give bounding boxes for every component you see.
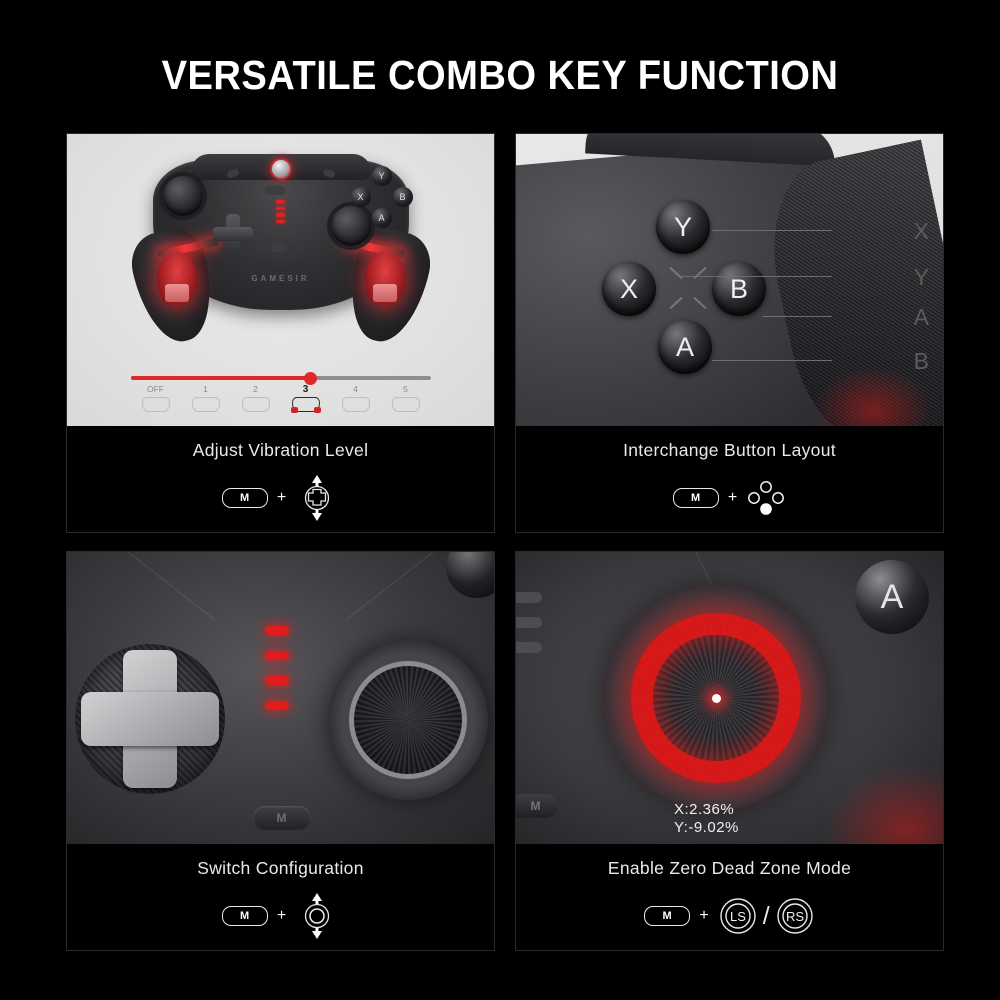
face-button-x: X	[351, 187, 371, 207]
card-adjust-vibration-level[interactable]: Y X B A GAMESIR OFF 1	[66, 133, 495, 533]
dead-zone-glow-ring	[631, 613, 801, 783]
slider-tick-1: 1	[181, 384, 231, 395]
face-button-a-macro: A	[855, 560, 929, 634]
callout-group: X Y A B	[516, 134, 943, 426]
card-photo-button-layout: Y X B A X Y A B	[516, 134, 943, 426]
feature-card-grid: Y X B A GAMESIR OFF 1	[66, 133, 944, 951]
card-caption-interchange-button-layout: Interchange Button Layout M +	[516, 426, 943, 532]
combo-keys-switch-configuration: M +	[222, 893, 339, 939]
dpad-macro	[75, 644, 225, 794]
card-photo-controller-vibration: Y X B A GAMESIR OFF 1	[67, 134, 494, 426]
left-stick-click-icon: LS	[718, 896, 760, 936]
callout-label-y: Y	[914, 264, 929, 291]
combo-keys-adjust-vibration: M +	[222, 475, 339, 521]
vibration-motor-left	[157, 252, 197, 306]
analog-stick-macro	[328, 640, 488, 800]
slider-tick-3-active: 3	[281, 384, 331, 395]
caption-label: Enable Zero Dead Zone Mode	[608, 858, 851, 879]
dpad-icon	[213, 214, 253, 254]
card-caption-enable-zero-dead-zone-mode: Enable Zero Dead Zone Mode M + LS / RS	[516, 844, 943, 950]
controller-glyph-4-icon	[342, 397, 370, 412]
ls-label: LS	[730, 909, 746, 924]
dpad-up-down-icon	[295, 475, 339, 521]
slider-tick-5: 5	[381, 384, 431, 395]
left-analog-stick	[163, 176, 203, 216]
vibration-level-slider[interactable]: OFF 1 2 3 4 5	[131, 376, 431, 412]
card-switch-configuration[interactable]: M Switch Configuration M +	[66, 551, 495, 951]
led-indicator-bar	[276, 200, 285, 223]
slider-controller-glyphs	[131, 397, 431, 412]
card-enable-zero-dead-zone-mode[interactable]: A M X:2.36% Y:-9.02% Enable Zero Dead Zo…	[515, 551, 944, 951]
m-button-icon	[271, 244, 287, 252]
face-button-cluster: Y X B A	[351, 166, 413, 228]
combo-keys-zero-dead-zone: M + LS / RS	[644, 893, 814, 939]
analog-stick-up-down-icon	[295, 893, 339, 939]
face-button-b: B	[393, 187, 413, 207]
rs-label: RS	[786, 909, 804, 924]
plus-sign: +	[277, 908, 286, 924]
face-button-y: Y	[372, 166, 392, 186]
m-button-macro: M	[516, 794, 558, 818]
right-stick-click-icon: RS	[773, 896, 815, 936]
caption-label: Interchange Button Layout	[623, 440, 836, 461]
controller-glyph-1-icon	[192, 397, 220, 412]
card-photo-dead-zone: A M X:2.36% Y:-9.02%	[516, 552, 943, 844]
slider-handle[interactable]	[304, 372, 317, 385]
card-caption-adjust-vibration-level: Adjust Vibration Level M +	[67, 426, 494, 532]
stick-center-dot	[712, 694, 721, 703]
m-key-icon: M	[222, 906, 268, 926]
face-button-a: A	[372, 208, 392, 228]
m-key-icon: M	[644, 906, 690, 926]
home-button-icon	[270, 158, 292, 180]
stick-divider: /	[763, 902, 770, 931]
card-interchange-button-layout[interactable]: Y X B A X Y A B	[515, 133, 944, 533]
callout-label-x: X	[914, 218, 929, 245]
side-button-strip	[516, 592, 542, 653]
combo-keys-interchange-layout: M +	[673, 475, 786, 521]
dead-zone-stick	[604, 586, 828, 810]
controller-illustration: Y X B A GAMESIR	[131, 148, 431, 348]
caption-label: Switch Configuration	[197, 858, 364, 879]
slider-tick-off: OFF	[131, 384, 181, 395]
face-button-cluster-icon	[746, 479, 786, 517]
callout-label-b: B	[914, 348, 929, 375]
card-photo-dpad-leds: M	[67, 552, 494, 844]
dead-zone-readout: X:2.36% Y:-9.02%	[674, 801, 739, 839]
led-indicator-bar-macro	[265, 626, 289, 710]
controller-glyph-off-icon	[142, 397, 170, 412]
m-key-icon: M	[673, 488, 719, 508]
controller-glyph-3-active-icon	[292, 397, 320, 412]
readout-x-value: X:2.36%	[674, 801, 739, 820]
page-title: VERSATILE COMBO KEY FUNCTION	[35, 52, 965, 99]
card-caption-switch-configuration: Switch Configuration M +	[67, 844, 494, 950]
caption-label: Adjust Vibration Level	[193, 440, 369, 461]
slider-tick-4: 4	[331, 384, 381, 395]
face-button-corner	[446, 552, 494, 598]
slider-tick-2: 2	[231, 384, 281, 395]
controller-glyph-2-icon	[242, 397, 270, 412]
slider-fill	[131, 376, 311, 380]
m-key-icon: M	[222, 488, 268, 508]
readout-y-value: Y:-9.02%	[674, 819, 739, 838]
slider-track[interactable]	[131, 376, 431, 380]
vibration-motor-right	[365, 252, 405, 306]
plus-sign: +	[699, 908, 708, 924]
brand-logo: GAMESIR	[251, 274, 309, 283]
controller-glyph-5-icon	[392, 397, 420, 412]
callout-label-a: A	[914, 304, 929, 331]
plus-sign: +	[728, 490, 737, 506]
slider-tick-labels: OFF 1 2 3 4 5	[131, 384, 431, 395]
plus-sign: +	[277, 490, 286, 506]
m-button-macro: M	[253, 806, 311, 830]
